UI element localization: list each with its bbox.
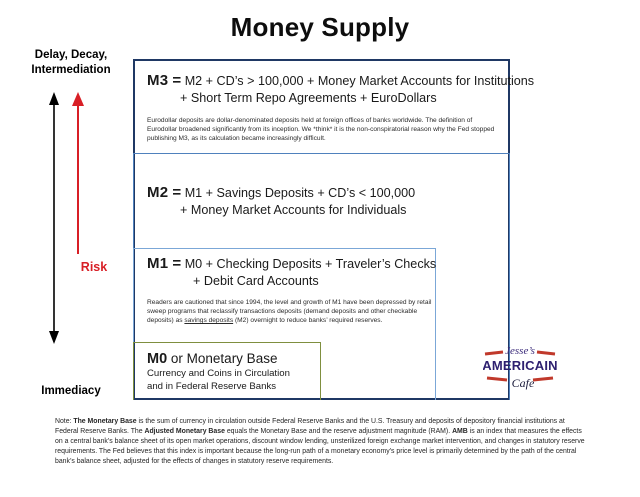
axis-top-label-line1: Delay, Decay, xyxy=(35,49,107,61)
tier-m1-note-underlined: savings deposits xyxy=(184,317,233,324)
tier-m3-text: M3 = M2 + CD’s > 100,000 + Money Market … xyxy=(147,72,502,144)
axis-top-label-line2: Intermediation xyxy=(31,64,110,76)
axis-arrows xyxy=(16,92,126,344)
logo-line2: AMERICAIN xyxy=(483,358,557,373)
axis-bottom-label: Immediacy xyxy=(16,384,126,399)
tier-m3-line2: + Short Term Repo Agreements + EuroDolla… xyxy=(180,90,502,107)
logo-line3: Cafe xyxy=(512,376,535,390)
tier-m2-line2: + Money Market Accounts for Individuals xyxy=(180,202,502,219)
tier-m1-line2: + Debit Card Accounts xyxy=(193,273,447,290)
footnote-text-2: equals the Monetary Base and the reserve… xyxy=(225,428,452,435)
tier-m2-text: M2 = M1 + Savings Deposits + CD’s < 100,… xyxy=(147,184,502,219)
tier-m2-tag: M2 xyxy=(147,184,168,201)
axis-top-label: Delay, Decay, Intermediation xyxy=(16,48,126,78)
tier-m0-tag: M0 xyxy=(147,351,167,367)
footnote: Note: The Monetary Base is the sum of cu… xyxy=(55,417,588,467)
footnote-bold-3: AMB xyxy=(452,428,468,435)
tier-m2-equals: = xyxy=(172,184,181,201)
tier-m1-line1: M0 + Checking Deposits + Traveler’s Chec… xyxy=(185,257,437,271)
jesses-americain-cafe-logo: Jesse’s AMERICAIN Cafe xyxy=(483,341,557,391)
double-headed-arrow xyxy=(49,92,59,344)
tier-m2-headline: M2 = M1 + Savings Deposits + CD’s < 100,… xyxy=(147,184,502,202)
tier-m3-note: Eurodollar deposits are dollar-denominat… xyxy=(147,116,497,144)
tier-m1-text: M1 = M0 + Checking Deposits + Traveler’s… xyxy=(147,255,447,326)
tier-m3-equals: = xyxy=(172,72,181,89)
footnote-lead: Note: xyxy=(55,418,73,425)
tier-m3-headline: M3 = M2 + CD’s > 100,000 + Money Market … xyxy=(147,72,502,90)
footnote-bold-1: The Monetary Base xyxy=(73,418,136,425)
tier-m1-note: Readers are cautioned that since 1994, t… xyxy=(147,298,432,326)
risk-label: Risk xyxy=(62,260,126,274)
tier-m0-headline: M0 or Monetary Base xyxy=(147,350,332,368)
tier-m1-note-part2: (M2) overnight to reduce banks’ required… xyxy=(233,317,382,324)
tier-m0-sub2: and in Federal Reserve Banks xyxy=(147,381,332,394)
tier-m0-text: M0 or Monetary Base Currency and Coins i… xyxy=(147,350,332,393)
footnote-bold-2: Adjusted Monetary Base xyxy=(145,428,225,435)
tier-m1-equals: = xyxy=(172,255,181,272)
tier-m1-headline: M1 = M0 + Checking Deposits + Traveler’s… xyxy=(147,255,447,273)
tier-m3-tag: M3 xyxy=(147,72,168,89)
logo-line1: Jesse’s xyxy=(505,345,535,357)
tier-m3-line1: M2 + CD’s > 100,000 + Money Market Accou… xyxy=(185,74,534,88)
tier-m0-head-rest: or Monetary Base xyxy=(167,351,277,366)
tier-m0-sub1: Currency and Coins in Circulation xyxy=(147,368,332,381)
axis-column: Delay, Decay, Intermediation Risk Immedi… xyxy=(16,48,126,400)
tier-m1-tag: M1 xyxy=(147,255,168,272)
page-title: Money Supply xyxy=(0,12,640,43)
tier-m2-line1: M1 + Savings Deposits + CD’s < 100,000 xyxy=(185,186,415,200)
up-arrow xyxy=(72,92,84,254)
